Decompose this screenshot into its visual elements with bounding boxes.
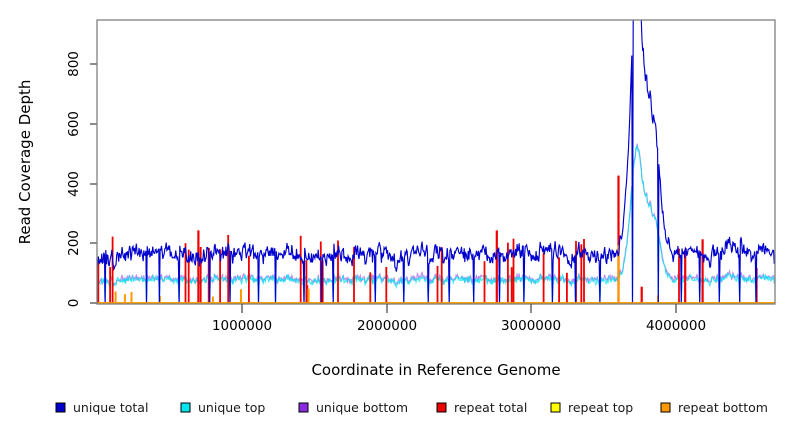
- legend-label-repeat-total: repeat total: [454, 400, 527, 415]
- legend-swatch-repeat-total: [437, 403, 446, 412]
- x-tick-label-1000000: 1000000: [212, 318, 272, 334]
- y-tick-label-200: 200: [66, 230, 82, 256]
- plot-svg: Read Coverage Depth 0 200 400 600 800: [0, 0, 792, 432]
- legend-label-unique-total: unique total: [73, 400, 148, 415]
- legend-swatch-unique-total: [56, 403, 65, 412]
- legend-label-unique-bottom: unique bottom: [316, 400, 408, 415]
- legend-swatch-repeat-top: [551, 403, 560, 412]
- legend-label-repeat-bottom: repeat bottom: [678, 400, 768, 415]
- x-axis-title: Coordinate in Reference Genome: [311, 361, 560, 379]
- x-tick-label-3000000: 3000000: [501, 318, 561, 334]
- legend-label-unique-top: unique top: [198, 400, 265, 415]
- x-tick-label-4000000: 4000000: [646, 318, 706, 334]
- coverage-plot-figure: Read Coverage Depth 0 200 400 600 800: [0, 0, 792, 432]
- y-tick-label-600: 600: [66, 111, 82, 137]
- y-tick-label-0: 0: [66, 299, 82, 308]
- legend-item-repeat-bottom[interactable]: repeat bottom: [661, 400, 768, 415]
- y-tick-label-400: 400: [66, 171, 82, 197]
- legend-swatch-unique-bottom: [299, 403, 308, 412]
- legend-swatch-repeat-bottom: [661, 403, 670, 412]
- y-axis-title: Read Coverage Depth: [16, 80, 34, 245]
- legend-swatch-unique-top: [181, 403, 190, 412]
- legend-item-unique-bottom[interactable]: unique bottom: [299, 400, 408, 415]
- x-tick-label-2000000: 2000000: [357, 318, 417, 334]
- legend-label-repeat-top: repeat top: [568, 400, 633, 415]
- y-tick-label-800: 800: [66, 51, 82, 77]
